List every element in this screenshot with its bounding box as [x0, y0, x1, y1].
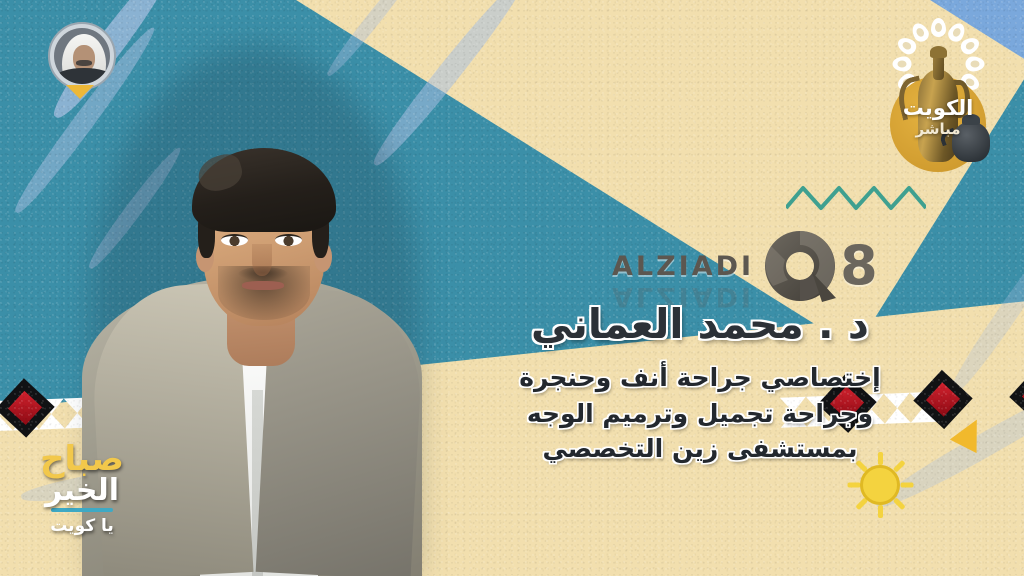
program-title-line2: الخير — [22, 476, 142, 506]
channel-name-main: الكويت — [874, 96, 1002, 120]
eye-left — [221, 234, 248, 246]
mouth — [242, 281, 284, 290]
program-title-rule — [51, 508, 113, 512]
channel-name-sub: مباشر — [874, 120, 1002, 138]
sponsor-wordmark: ALZIADI — [612, 251, 754, 282]
sponsor-logo: ALZIADI ALZIADI 8 — [612, 228, 878, 304]
emir-badge-ring — [48, 22, 116, 90]
program-watermark: صباح الخير يا كويت — [22, 443, 142, 536]
sponsor-suffix: 8 — [840, 239, 878, 293]
channel-logo: الكويت مباشر — [874, 18, 1002, 188]
lower-third-text: د . محمد العماني إختصاصي جراحة أنف وحنجر… — [420, 300, 980, 467]
dallah-lid — [930, 46, 947, 58]
program-title-line3: يا كويت — [22, 516, 142, 536]
dot-decoration — [455, 262, 464, 271]
emir-shoulders — [56, 68, 110, 84]
eye-right — [275, 234, 302, 246]
guest-title: إختصاصي جراحة أنف وحنجرة وجراحة تجميل وت… — [420, 360, 980, 467]
guest-title-line: إختصاصي جراحة أنف وحنجرة — [420, 360, 980, 396]
stylized-q-swirl-icon — [762, 228, 838, 304]
badge-triangle-accent — [66, 85, 94, 99]
emir-moustache — [76, 60, 92, 66]
broadcast-frame: الكويت مباشر ALZIADI ALZIADI — [0, 0, 1024, 576]
nose — [252, 244, 272, 276]
emir-badge-inner — [54, 28, 110, 84]
emir-portrait-icon — [48, 22, 116, 90]
guest-title-line: وجراحة تجميل وترميم الوجه — [420, 396, 980, 432]
program-title-line1: صباح — [22, 443, 142, 476]
guest-title-line: بمستشفى زين التخصصي — [420, 431, 980, 467]
guest-name: د . محمد العماني — [420, 300, 980, 348]
